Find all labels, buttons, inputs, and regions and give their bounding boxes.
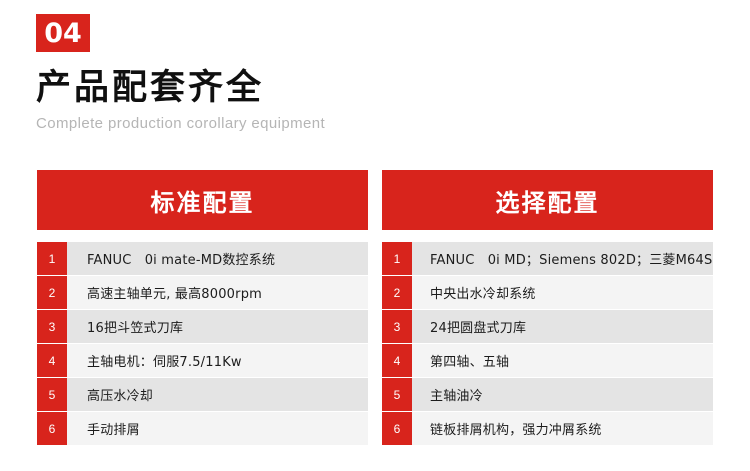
row-index: 2 xyxy=(37,276,67,309)
table-row: 3 16把斗笠式刀库 xyxy=(37,310,368,343)
standard-configuration-rows: 1 FANUC 0i mate-MD数控系统 2 高速主轴单元, 最高8000r… xyxy=(37,242,368,445)
row-index: 5 xyxy=(37,378,67,411)
row-label: 高速主轴单元, 最高8000rpm xyxy=(67,276,368,309)
row-label: 手动排屑 xyxy=(67,412,368,445)
table-row: 6 手动排屑 xyxy=(37,412,368,445)
row-index: 4 xyxy=(382,344,412,377)
row-index: 6 xyxy=(382,412,412,445)
table-row: 5 高压水冷却 xyxy=(37,378,368,411)
optional-configuration-table: 选择配置 1 FANUC 0i MD；Siemens 802D；三菱M64S 2… xyxy=(382,170,713,446)
row-label: 主轴油冷 xyxy=(412,378,713,411)
table-row: 1 FANUC 0i MD；Siemens 802D；三菱M64S xyxy=(382,242,713,275)
row-label: 高压水冷却 xyxy=(67,378,368,411)
row-label: FANUC 0i MD；Siemens 802D；三菱M64S xyxy=(412,242,713,275)
row-index: 1 xyxy=(37,242,67,275)
optional-configuration-rows: 1 FANUC 0i MD；Siemens 802D；三菱M64S 2 中央出水… xyxy=(382,242,713,445)
optional-configuration-header: 选择配置 xyxy=(382,170,713,230)
section-header: 04 产品配套齐全 Complete production corollary … xyxy=(36,14,716,133)
table-row: 4 主轴电机：伺服7.5/11Kw xyxy=(37,344,368,377)
standard-configuration-table: 标准配置 1 FANUC 0i mate-MD数控系统 2 高速主轴单元, 最高… xyxy=(37,170,368,446)
row-index: 2 xyxy=(382,276,412,309)
section-number-badge: 04 xyxy=(36,14,90,52)
row-index: 3 xyxy=(37,310,67,343)
row-label: FANUC 0i mate-MD数控系统 xyxy=(67,242,368,275)
table-row: 6 链板排屑机构，强力冲屑系统 xyxy=(382,412,713,445)
row-label: 中央出水冷却系统 xyxy=(412,276,713,309)
row-label: 主轴电机：伺服7.5/11Kw xyxy=(67,344,368,377)
page-subtitle: Complete production corollary equipment xyxy=(36,115,716,133)
table-row: 5 主轴油冷 xyxy=(382,378,713,411)
row-label: 24把圆盘式刀库 xyxy=(412,310,713,343)
table-row: 4 第四轴、五轴 xyxy=(382,344,713,377)
row-index: 3 xyxy=(382,310,412,343)
row-label: 第四轴、五轴 xyxy=(412,344,713,377)
table-row: 2 中央出水冷却系统 xyxy=(382,276,713,309)
row-index: 4 xyxy=(37,344,67,377)
row-label: 链板排屑机构，强力冲屑系统 xyxy=(412,412,713,445)
spec-tables-container: 标准配置 1 FANUC 0i mate-MD数控系统 2 高速主轴单元, 最高… xyxy=(37,170,713,446)
standard-configuration-header: 标准配置 xyxy=(37,170,368,230)
table-row: 1 FANUC 0i mate-MD数控系统 xyxy=(37,242,368,275)
row-index: 5 xyxy=(382,378,412,411)
table-row: 3 24把圆盘式刀库 xyxy=(382,310,713,343)
row-index: 6 xyxy=(37,412,67,445)
row-label: 16把斗笠式刀库 xyxy=(67,310,368,343)
row-index: 1 xyxy=(382,242,412,275)
table-row: 2 高速主轴单元, 最高8000rpm xyxy=(37,276,368,309)
page-title: 产品配套齐全 xyxy=(36,70,716,107)
